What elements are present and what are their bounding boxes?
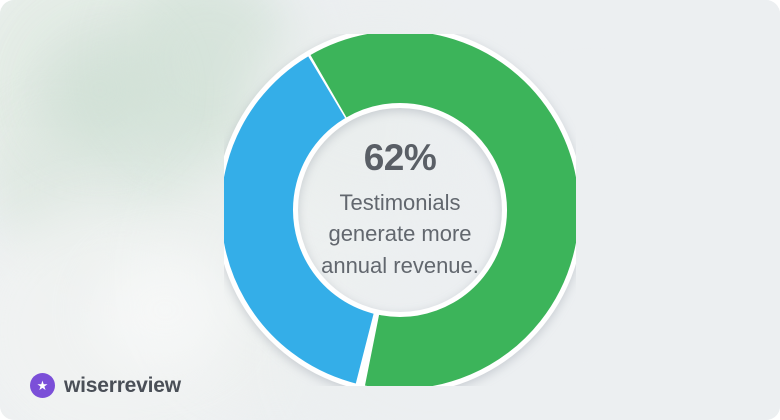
infographic-canvas: 62% Testimonials generate more annual re… bbox=[0, 0, 780, 420]
donut-chart-svg bbox=[224, 34, 576, 386]
donut-chart: 62% Testimonials generate more annual re… bbox=[224, 34, 576, 386]
brand-name: wiserreview bbox=[64, 374, 181, 398]
brand-logo: ★ wiserreview bbox=[30, 373, 181, 398]
star-badge-icon: ★ bbox=[30, 373, 55, 398]
